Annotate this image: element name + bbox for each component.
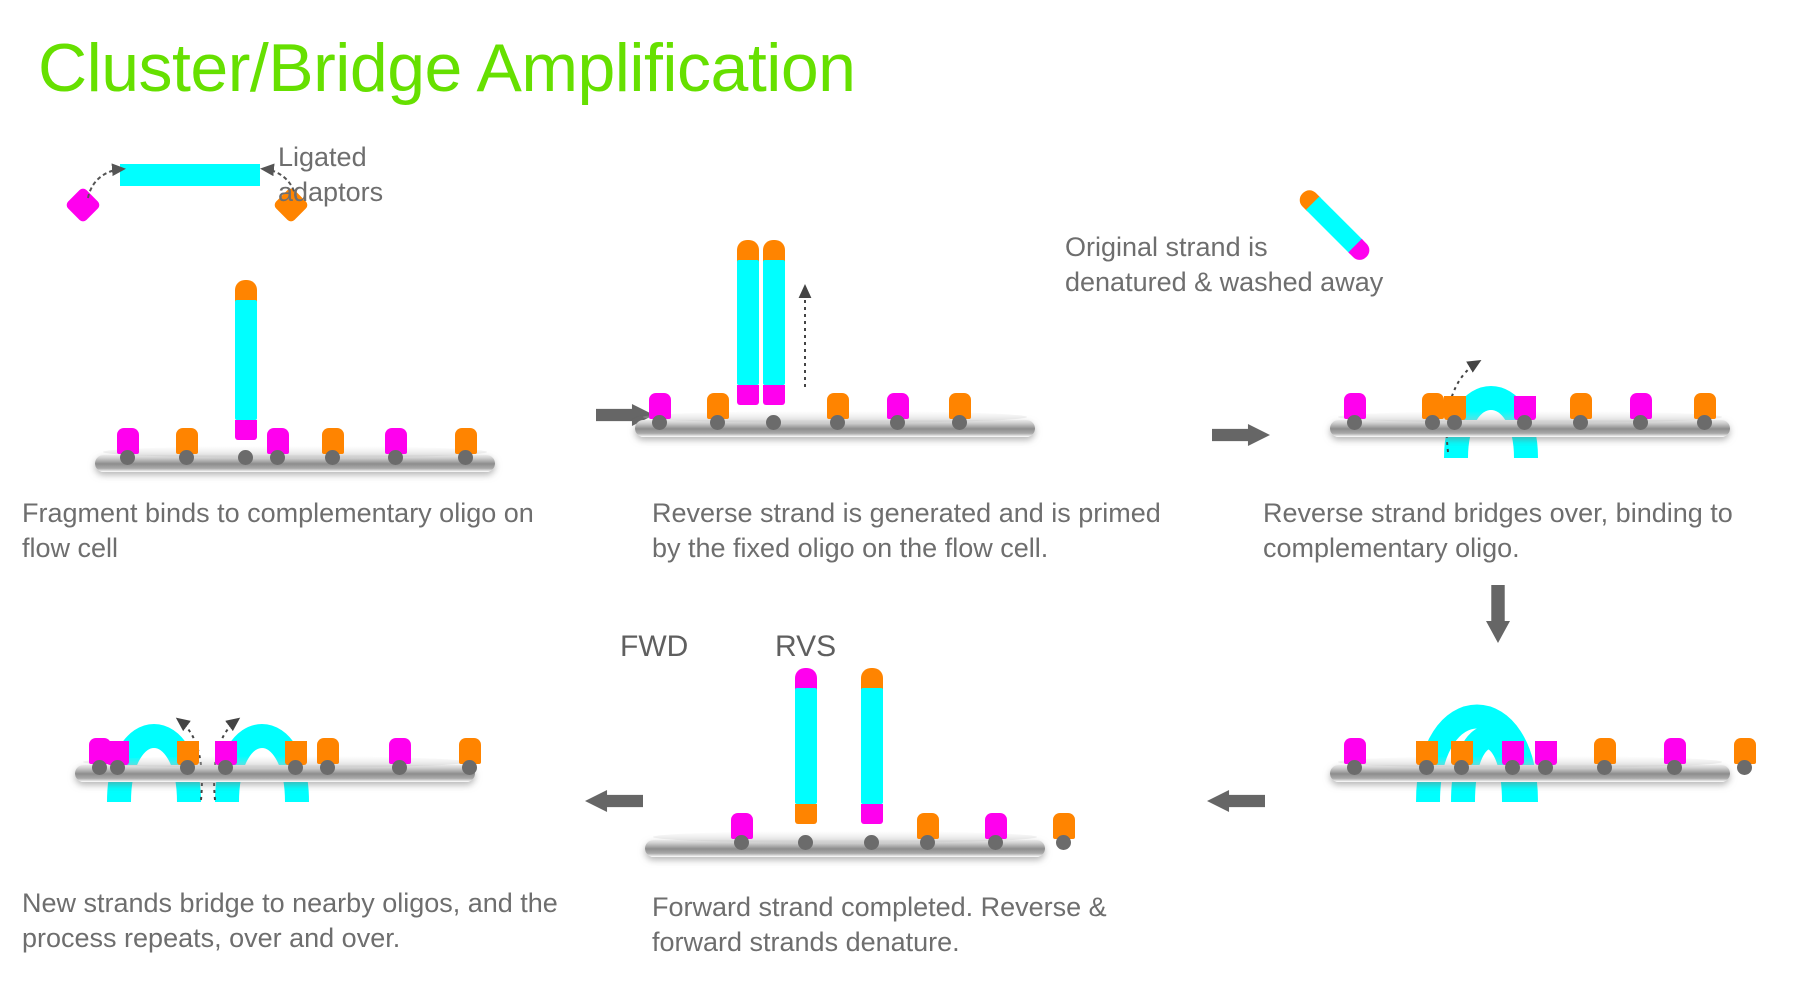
- fwd-label: FWD: [620, 630, 688, 664]
- oligo-anchor-1: [120, 450, 135, 465]
- panel-2-diagram: [635, 240, 1055, 480]
- oligo-anchor-5-4: [920, 835, 935, 850]
- fwd-strand-top-cap: [795, 668, 817, 690]
- oligo-anchor-3-1: [1347, 415, 1362, 430]
- flowcell-6-surface: [75, 765, 475, 782]
- oligo-anchor-5-2: [798, 835, 813, 850]
- oligo-anchor-6-8: [462, 760, 477, 775]
- strand-1-body: [235, 300, 257, 420]
- step-2-caption: Reverse strand is generated and is prime…: [652, 496, 1212, 566]
- oligo-anchor-2-2: [710, 415, 725, 430]
- oligo-anchor-6: [388, 450, 403, 465]
- oligo-anchor-2-4: [830, 415, 845, 430]
- oligo-anchor-6-7: [392, 760, 407, 775]
- step-5-caption: Forward strand completed. Reverse & forw…: [652, 890, 1172, 960]
- original-strand-label: Original strand is denatured & washed aw…: [1065, 230, 1465, 300]
- flowcell-1-surface: [95, 455, 495, 472]
- oligo-anchor-6-2: [110, 760, 125, 775]
- oligo-anchor-4-5: [1538, 760, 1553, 775]
- oligo-anchor-3: [238, 450, 253, 465]
- oligo-anchor-5-1: [734, 835, 749, 850]
- oligo-anchor-3-7: [1697, 415, 1712, 430]
- oligo-anchor-4-2: [1419, 760, 1434, 775]
- oligo-anchor-2-1: [652, 415, 667, 430]
- oligo-anchor-4: [270, 450, 285, 465]
- rvs-strand-foot: [861, 804, 883, 824]
- fwd-strand-body: [795, 688, 817, 804]
- oligo-anchor-6-6: [320, 760, 335, 775]
- oligo-anchor-3-4: [1517, 415, 1532, 430]
- panel-3-diagram: [1330, 340, 1750, 480]
- step-1-caption: Fragment binds to complementary oligo on…: [22, 496, 542, 566]
- flow-arrow-2: [1212, 424, 1270, 446]
- flow-arrow-5: [585, 790, 643, 812]
- flow-arrow-4: [1207, 790, 1265, 812]
- oligo-anchor-3-3: [1447, 415, 1462, 430]
- strand-1-top-cap: [235, 280, 257, 302]
- flowcell-5-surface: [645, 840, 1045, 857]
- panel-6-diagram: [75, 680, 495, 820]
- flow-arrow-3: [1486, 585, 1510, 643]
- oligo-anchor-7: [458, 450, 473, 465]
- oligo-anchor-4-4: [1505, 760, 1520, 775]
- panel-5-diagram: [645, 660, 1065, 850]
- oligo-anchor-4-8: [1737, 760, 1752, 775]
- oligo-anchor-3-5: [1573, 415, 1588, 430]
- oligo-anchor-3-2: [1425, 415, 1440, 430]
- oligo-anchor-2: [179, 450, 194, 465]
- oligo-anchor-6-3: [180, 760, 195, 775]
- panel-1-diagram: [95, 280, 515, 480]
- oligo-anchor-2-3: [766, 415, 781, 430]
- fwd-strand-foot: [795, 804, 817, 824]
- rvs-label: RVS: [775, 630, 836, 664]
- synthesis-direction-arrow: [635, 240, 1055, 480]
- page-title: Cluster/Bridge Amplification: [38, 34, 855, 102]
- oligo-anchor-2-5: [890, 415, 905, 430]
- rvs-strand-body: [861, 688, 883, 804]
- denatured-original-strand: [1296, 136, 1402, 242]
- oligo-anchor-5-3: [864, 835, 879, 850]
- ligated-adaptors-label: Ligated adaptors: [278, 140, 498, 210]
- oligo-anchor-4-6: [1597, 760, 1612, 775]
- oligo-anchor-5: [325, 450, 340, 465]
- bridge-motion-arrow: [1330, 340, 1750, 480]
- oligo-anchor-3-6: [1633, 415, 1648, 430]
- panel-4-diagram: [1330, 680, 1750, 820]
- oligo-anchor-4-7: [1667, 760, 1682, 775]
- oligo-anchor-2-6: [952, 415, 967, 430]
- step-3-caption: Reverse strand bridges over, binding to …: [1263, 496, 1801, 566]
- oligo-anchor-6-4: [218, 760, 233, 775]
- oligo-anchor-5-6: [1056, 835, 1071, 850]
- oligo-anchor-4-1: [1347, 760, 1362, 775]
- oligo-anchor-6-5: [288, 760, 303, 775]
- step-6-caption: New strands bridge to nearby oligos, and…: [22, 886, 582, 956]
- oligo-anchor-4-3: [1454, 760, 1469, 775]
- oligo-anchor-5-5: [988, 835, 1003, 850]
- rvs-strand-top-cap: [861, 668, 883, 690]
- strand-1-foot: [235, 420, 257, 440]
- oligo-anchor-6-1: [92, 760, 107, 775]
